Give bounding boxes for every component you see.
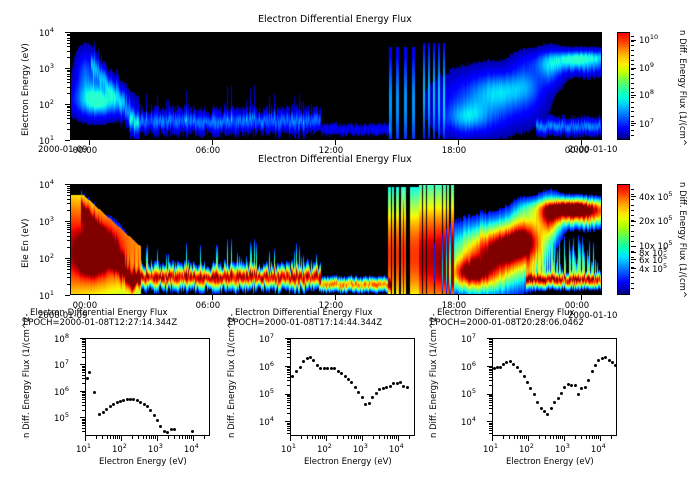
spectrum-ytick-minor-2: [489, 405, 492, 406]
spectrum-ytick-minor-0: [82, 392, 85, 393]
spectrum-data-point: [577, 393, 580, 396]
spectrum-data-point: [516, 366, 519, 369]
spectrum-xtick-label-1: 103: [353, 443, 368, 454]
panel2-spectrogram-canvas: [71, 185, 601, 294]
spectrum-xtick-minor-1: [358, 436, 359, 439]
panel2-ytick-minor: [67, 266, 70, 267]
panel1-xtick: [335, 140, 336, 145]
spectrum-xtick-2: [564, 436, 565, 441]
panel1-ytick-minor: [67, 74, 70, 75]
spectrum-xtick-minor-2: [586, 436, 587, 439]
panel2-ytick-minor: [67, 199, 70, 200]
panel2-spectrogram[interactable]: [70, 184, 602, 295]
spectrum-xtick-minor-1: [354, 436, 355, 439]
spectrum-ytick-minor-0: [82, 344, 85, 345]
spectrum-ytick-minor-1: [287, 342, 290, 343]
spectrum-ylabel-0: n Diff. Energy Flux (1/(cm^2-: [23, 313, 32, 438]
spectrum-ytick-minor-2: [489, 428, 492, 429]
spectrum-data-point: [550, 407, 553, 410]
panel2-ytick-minor: [67, 186, 70, 187]
spectrum-data-point: [536, 401, 539, 404]
spectrum-ytick-minor-0: [82, 431, 85, 432]
spectrum-title-0: Electron Differential Energy Flux: [30, 309, 168, 318]
panel1-ytick-minor: [67, 129, 70, 130]
panel1-ylabel: Electron Energy (eV): [22, 43, 31, 136]
spectrum-ytick-minor-1: [287, 353, 290, 354]
spectrum-xtick-2: [492, 436, 493, 441]
panel1-colorbar-minor-tick: [631, 88, 634, 89]
spectrum-data-point: [299, 366, 302, 369]
spectrum-data-point: [557, 397, 560, 400]
spectrum-xtick-minor-0: [132, 436, 133, 439]
spectrum-ytick-label-2: 107: [461, 333, 476, 344]
panel2-colorbar-minor-tick: [631, 236, 634, 237]
panel2-colorbar-minor-tick: [631, 210, 634, 211]
panel2-ytick-minor: [67, 240, 70, 241]
panel2-colorbar-minor-tick: [631, 251, 634, 252]
panel2-colorbar-minor-tick: [631, 267, 634, 268]
spectrum-ytick-minor-1: [287, 395, 290, 396]
panel2-xtick-label: 06:00: [196, 302, 221, 311]
spectrum-ytick-minor-0: [82, 423, 85, 424]
spectrum-xtick-minor-2: [592, 436, 593, 439]
spectrum-xtick-minor-0: [168, 436, 169, 439]
spectrum-xtick-minor-1: [320, 436, 321, 439]
spectrum-ytick-minor-0: [82, 342, 85, 343]
spectrum-ytick-minor-0: [82, 425, 85, 426]
panel2-ytick-minor: [67, 210, 70, 211]
spectrum-ytick-minor-1: [287, 385, 290, 386]
panel2-colorbar-minor-tick: [631, 199, 634, 200]
spectrum-data-point: [574, 384, 577, 387]
spectrum-xtick-minor-2: [594, 436, 595, 439]
panel2-colorbar-minor-tick: [631, 189, 634, 190]
spectrum-ytick-minor-1: [287, 380, 290, 381]
spectrum-ytick-minor-2: [489, 385, 492, 386]
spectrum-ytick-minor-1: [287, 400, 290, 401]
spectrum-xtick-label-0: 102: [112, 443, 127, 454]
spectrum-ytick-label-2: 106: [461, 361, 476, 372]
spectrum-ytick-minor-2: [489, 341, 492, 342]
spectrum-xtick-minor-0: [149, 436, 150, 439]
spectrum-ytick-minor-2: [489, 396, 492, 397]
spectrum-data-point: [570, 384, 573, 387]
panel2-ytick-minor: [67, 247, 70, 248]
spectrum-xtick-minor-1: [390, 436, 391, 439]
spectrum-ytick-minor-2: [489, 372, 492, 373]
panel2-colorbar-tick: [631, 259, 636, 260]
panel2-title: Electron Differential Energy Flux: [258, 155, 412, 165]
spectrum-data-point: [191, 430, 194, 433]
spectrum-xtick-minor-1: [384, 436, 385, 439]
spectrum-xtick-minor-1: [409, 436, 410, 439]
spectrum-ytick-minor-0: [82, 357, 85, 358]
spectrum-ytick-minor-2: [489, 433, 492, 434]
spectrum-ytick-minor-0: [82, 346, 85, 347]
spectrum-ytick-minor-0: [82, 395, 85, 396]
panel2-ytick-minor: [67, 195, 70, 196]
spectrum-xtick-minor-1: [322, 436, 323, 439]
spectrum-xtick-minor-2: [514, 436, 515, 439]
spectrum-xtick-0: [85, 436, 86, 441]
spectrum-xtick-minor-1: [343, 436, 344, 439]
spectrum-ytick-minor-0: [82, 419, 85, 420]
spectrum-ytick-minor-1: [287, 344, 290, 345]
figure-canvas: Electron Differential Energy Flux Electr…: [0, 0, 697, 492]
panel1-colorbar-minor-tick: [631, 50, 634, 51]
spectrum-ytick-minor-1: [287, 396, 290, 397]
panel1-colorbar-minor-tick: [631, 41, 634, 42]
panel1-ytick-minor: [67, 110, 70, 111]
spectrum-ytick-minor-2: [489, 353, 492, 354]
spectrum-xtick-minor-2: [581, 436, 582, 439]
panel1-colorbar-minor-tick: [631, 83, 634, 84]
panel2-colorbar-minor-tick: [631, 257, 634, 258]
spectrum-xlabel-2: Electron Energy (eV): [506, 458, 594, 467]
panel2-xtick: [89, 295, 90, 300]
panel1-colorbar-tick-label: 108: [639, 90, 654, 101]
spectrum-plot-2[interactable]: [492, 338, 617, 436]
spectrum-ytick-label-2: 105: [461, 389, 476, 400]
spectrum-xtick-minor-2: [553, 436, 554, 439]
panel1-spectrogram-canvas: [71, 33, 601, 139]
spectrum-data-point: [591, 370, 594, 373]
panel1-colorbar-minor-tick: [631, 69, 634, 70]
panel1-ytick-minor: [67, 40, 70, 41]
panel2-colorbar-minor-tick: [631, 272, 634, 273]
spectrum-xtick-minor-0: [107, 436, 108, 439]
spectrum-ytick-label-0: 107: [54, 359, 69, 370]
spectrum-xtick-minor-2: [524, 436, 525, 439]
panel1-ytick-minor: [67, 112, 70, 113]
spectrum-ytick-minor-1: [287, 341, 290, 342]
panel2-colorbar-tick-label: 4x 105: [639, 263, 667, 274]
spectrum-ytick-label-2: 104: [461, 416, 476, 427]
panel1-xtick: [458, 140, 459, 145]
spectrum-xtick-2: [528, 436, 529, 441]
spectrum-ytick-minor-0: [82, 399, 85, 400]
spectrum-xtick-label-0: 101: [76, 443, 91, 454]
panel2-ytick-minor: [67, 203, 70, 204]
spectrum-xtick-minor-1: [318, 436, 319, 439]
spectrum-xtick-minor-0: [185, 436, 186, 439]
panel1-colorbar-tick: [631, 95, 636, 96]
panel2-ytick-minor: [67, 284, 70, 285]
spectrum-ytick-minor-1: [287, 428, 290, 429]
spectrum-data-point: [156, 419, 159, 422]
spectrum-xtick-label-0: 103: [148, 443, 163, 454]
spectrum-data-point: [406, 386, 409, 389]
spectrum-xtick-minor-0: [182, 436, 183, 439]
spectrum-xtick-label-0: 104: [184, 443, 199, 454]
panel1-ytick-minor: [67, 34, 70, 35]
spectrum-xtick-minor-1: [356, 436, 357, 439]
spectrum-data-point: [512, 363, 515, 366]
spectrum-xtick-minor-1: [392, 436, 393, 439]
panel2-colorbar[interactable]: [617, 184, 630, 295]
spectrum-ytick-label-0: 105: [54, 412, 69, 423]
spectrum-data-point: [385, 386, 388, 389]
spectrum-ytick-minor-2: [489, 398, 492, 399]
panel1-colorbar[interactable]: [617, 32, 630, 140]
spectrum-data-point: [523, 375, 526, 378]
panel2-xtick: [458, 295, 459, 300]
spectrum-ytick-minor-0: [82, 420, 85, 421]
spectrum-ytick-minor-2: [489, 342, 492, 343]
spectrum-ytick-minor-2: [489, 374, 492, 375]
spectrum-data-point: [295, 370, 298, 373]
spectrum-ytick-label-0: 106: [54, 386, 69, 397]
spectrum-ytick-minor-1: [287, 402, 290, 403]
spectrum-epoch-1: EPOCH=2000-01-08T17:14:44.344Z: [228, 319, 382, 328]
spectrum-ytick-minor-0: [82, 366, 85, 367]
spectrum-ytick-minor-1: [287, 413, 290, 414]
panel1-colorbar-minor-tick: [631, 135, 634, 136]
panel1-colorbar-minor-tick: [631, 45, 634, 46]
spectrum-ylabel-1: n Diff. Energy Flux (1/(cm^2-: [228, 313, 237, 438]
spectrum-data-point: [587, 379, 590, 382]
panel2-ytick-minor: [67, 232, 70, 233]
panel2-ytick-minor: [67, 223, 70, 224]
panel2-xtick: [335, 295, 336, 300]
panel1-colorbar-minor-tick: [631, 92, 634, 93]
spectrum-ytick-minor-1: [287, 374, 290, 375]
spectrum-ytick-minor-1: [287, 370, 290, 371]
panel2-ytick-label: 102: [39, 253, 54, 264]
spectrum-xtick-1: [290, 436, 291, 441]
panel2-ytick-minor: [67, 225, 70, 226]
spectrum-ytick-minor-1: [287, 346, 290, 347]
spectrum-ytick-minor-2: [489, 408, 492, 409]
spectrum-ytick-minor-2: [489, 377, 492, 378]
panel2-colorbar-minor-tick: [631, 225, 634, 226]
panel1-colorbar-minor-tick: [631, 116, 634, 117]
panel1-ytick-minor: [67, 82, 70, 83]
panel1-xtick-label: 06:00: [196, 147, 221, 156]
spectrum-xtick-minor-0: [146, 436, 147, 439]
panel2-ytick-major: [65, 295, 70, 296]
spectrum-ylabel-2: n Diff. Energy Flux (1/(cm^2-: [430, 313, 439, 438]
spectrum-ytick-minor-2: [489, 380, 492, 381]
panel2-colorbar-minor-tick: [631, 205, 634, 206]
spectrum-epoch-0: EPOCH=2000-01-08T12:27:14.344Z: [23, 319, 177, 328]
panel1-colorbar-minor-tick: [631, 111, 634, 112]
spectrum-data-point: [109, 405, 112, 408]
spectrum-xtick-minor-0: [151, 436, 152, 439]
panel2-ylabel: Ele En (eV): [22, 218, 31, 268]
spectrum-ytick-minor-1: [287, 424, 290, 425]
panel1-colorbar-tick-label: 107: [639, 118, 654, 129]
spectrum-ytick-minor-2: [489, 426, 492, 427]
panel1-colorbar-tick: [631, 123, 636, 124]
panel2-colorbar-minor-tick: [631, 215, 634, 216]
panel1-colorbar-minor-tick: [631, 74, 634, 75]
spectrum-xtick-minor-0: [138, 436, 139, 439]
spectrum-ytick-minor-2: [489, 339, 492, 340]
spectrum-xtick-minor-0: [204, 436, 205, 439]
spectrum-xtick-1: [326, 436, 327, 441]
spectrum-xtick-minor-2: [503, 436, 504, 439]
panel1-colorbar-minor-tick: [631, 97, 634, 98]
panel2-ytick-minor: [67, 192, 70, 193]
panel2-colorbar-tick-label: 20x 105: [639, 216, 673, 227]
panel2-colorbar-tick-label: 40x 105: [639, 191, 673, 202]
spectrum-data-point: [139, 401, 142, 404]
spectrum-xtick-minor-2: [550, 436, 551, 439]
panel1-xdate-right: 2000-01-10: [568, 146, 617, 155]
panel1-ytick-label: 102: [39, 99, 54, 110]
spectrum-ytick-minor-0: [82, 422, 85, 423]
panel1-ytick-minor: [67, 51, 70, 52]
spectrum-xlabel-1: Electron Energy (eV): [304, 458, 392, 467]
panel1-ytick-minor: [67, 106, 70, 107]
panel2-ytick-minor: [67, 264, 70, 265]
spectrum-data-point: [399, 381, 402, 384]
spectrum-xtick-minor-2: [509, 436, 510, 439]
spectrum-xtick-0: [121, 436, 122, 441]
spectrum-data-point: [389, 385, 392, 388]
spectrum-ytick-minor-2: [489, 349, 492, 350]
panel1-ytick-minor: [67, 35, 70, 36]
spectrum-ytick-minor-2: [489, 400, 492, 401]
spectrum-ytick-minor-0: [82, 410, 85, 411]
spectrum-ytick-minor-2: [489, 357, 492, 358]
panel2-colorbar-minor-tick: [631, 288, 634, 289]
spectrum-data-point: [102, 411, 105, 414]
spectrum-xtick-minor-1: [312, 436, 313, 439]
spectrum-xtick-minor-2: [611, 436, 612, 439]
panel2-colorbar-minor-tick: [631, 246, 634, 247]
panel1-ytick-minor: [67, 70, 70, 71]
panel1-ytick-minor: [67, 107, 70, 108]
panel1-colorbar-label: n Diff. Energy Flux (1/(cm^: [678, 30, 687, 146]
spectrum-title-1: Electron Differential Energy Flux: [235, 309, 373, 318]
spectrum-ytick-minor-2: [489, 402, 492, 403]
panel1-ytick-minor: [67, 76, 70, 77]
spectrum-xtick-minor-0: [187, 436, 188, 439]
spectrum-ytick-minor-2: [489, 423, 492, 424]
spectrum-xtick-minor-1: [337, 436, 338, 439]
panel2-ytick-minor: [67, 273, 70, 274]
panel1-colorbar-minor-tick: [631, 60, 634, 61]
panel1-xtick-label: 18:00: [442, 147, 467, 156]
spectrum-ytick-minor-0: [82, 349, 85, 350]
panel2-colorbar-minor-tick: [631, 262, 634, 263]
spectrum-ytick-minor-0: [82, 394, 85, 395]
panel2-colorbar-tick: [631, 196, 636, 197]
panel2-xtick: [581, 295, 582, 300]
spectrum-ytick-minor-1: [287, 405, 290, 406]
panel2-ytick-minor: [67, 277, 70, 278]
spectrum-xtick-minor-2: [520, 436, 521, 439]
panel1-spectrogram[interactable]: [70, 32, 602, 140]
panel2-ytick-minor: [67, 229, 70, 230]
spectrum-ytick-minor-0: [82, 369, 85, 370]
panel2-ytick-minor: [67, 227, 70, 228]
panel2-ytick-minor: [67, 236, 70, 237]
spectrum-xtick-1: [398, 436, 399, 441]
spectrum-ytick-minor-0: [82, 339, 85, 340]
panel2-colorbar-minor-tick: [631, 194, 634, 195]
spectrum-xtick-minor-2: [560, 436, 561, 439]
spectrum-xtick-minor-2: [556, 436, 557, 439]
panel2-ytick-minor: [67, 188, 70, 189]
spectrum-ytick-minor-1: [287, 377, 290, 378]
spectrum-plot-0[interactable]: [85, 338, 210, 436]
spectrum-ytick-minor-2: [489, 346, 492, 347]
spectrum-ytick-minor-1: [287, 339, 290, 340]
spectrum-xtick-label-1: 102: [317, 443, 332, 454]
spectrum-ytick-minor-0: [82, 383, 85, 384]
spectrum-xtick-minor-2: [575, 436, 576, 439]
spectrum-xtick-label-2: 102: [519, 443, 534, 454]
spectrum-ytick-minor-1: [287, 398, 290, 399]
spectrum-xtick-minor-2: [558, 436, 559, 439]
spectrum-ytick-minor-1: [287, 430, 290, 431]
spectrum-xtick-minor-0: [143, 436, 144, 439]
spectrum-ytick-minor-0: [82, 372, 85, 373]
panel1-colorbar-minor-tick: [631, 107, 634, 108]
panel2-xtick: [212, 295, 213, 300]
spectrum-ytick-minor-1: [287, 369, 290, 370]
panel1-xdate-left: 2000-01-09: [38, 146, 87, 155]
panel2-colorbar-minor-tick: [631, 277, 634, 278]
panel1-colorbar-minor-tick: [631, 36, 634, 37]
panel2-colorbar-minor-tick: [631, 231, 634, 232]
spectrum-xtick-label-2: 104: [591, 443, 606, 454]
panel1-title: Electron Differential Energy Flux: [258, 15, 412, 25]
panel1-colorbar-minor-tick: [631, 78, 634, 79]
spectrum-xtick-minor-2: [517, 436, 518, 439]
spectrum-xtick-minor-0: [117, 436, 118, 439]
panel1-ytick-minor: [67, 118, 70, 119]
panel2-ytick-label: 103: [39, 216, 54, 227]
spectrum-xtick-label-1: 104: [389, 443, 404, 454]
panel1-colorbar-minor-tick: [631, 102, 634, 103]
panel2-colorbar-label: n Diff. Energy Flux (1/(cm^: [678, 182, 687, 298]
spectrum-xtick-minor-0: [113, 436, 114, 439]
panel1-colorbar-minor-tick: [631, 55, 634, 56]
spectrum-xtick-minor-1: [387, 436, 388, 439]
panel1-ytick-minor: [67, 71, 70, 72]
spectrum-data-point: [344, 375, 347, 378]
spectrum-xtick-minor-1: [373, 436, 374, 439]
spectrum-ytick-label-1: 105: [259, 389, 274, 400]
panel1-colorbar-tick-label: 1010: [639, 35, 658, 46]
spectrum-ytick-minor-1: [287, 372, 290, 373]
panel1-colorbar-minor-tick: [631, 125, 634, 126]
spectrum-xtick-minor-1: [301, 436, 302, 439]
spectrum-ytick-minor-1: [287, 367, 290, 368]
spectrum-xtick-0: [157, 436, 158, 441]
spectrum-plot-1[interactable]: [290, 338, 415, 436]
spectrum-xtick-minor-2: [545, 436, 546, 439]
spectrum-xtick-label-1: 101: [281, 443, 296, 454]
spectrum-title-2: Electron Differential Energy Flux: [437, 309, 575, 318]
spectrum-xtick-minor-1: [348, 436, 349, 439]
spectrum-xtick-0: [193, 436, 194, 441]
panel1-ytick-minor: [67, 57, 70, 58]
panel1-ytick-minor: [67, 115, 70, 116]
spectrum-ytick-minor-0: [82, 405, 85, 406]
spectrum-ytick-minor-1: [287, 408, 290, 409]
spectrum-ytick-label-1: 104: [259, 416, 274, 427]
spectrum-xtick-minor-2: [522, 436, 523, 439]
spectrum-xtick-minor-0: [110, 436, 111, 439]
panel2-colorbar-minor-tick: [631, 241, 634, 242]
spectrum-xtick-label-2: 103: [555, 443, 570, 454]
spectrum-data-point: [499, 366, 502, 369]
